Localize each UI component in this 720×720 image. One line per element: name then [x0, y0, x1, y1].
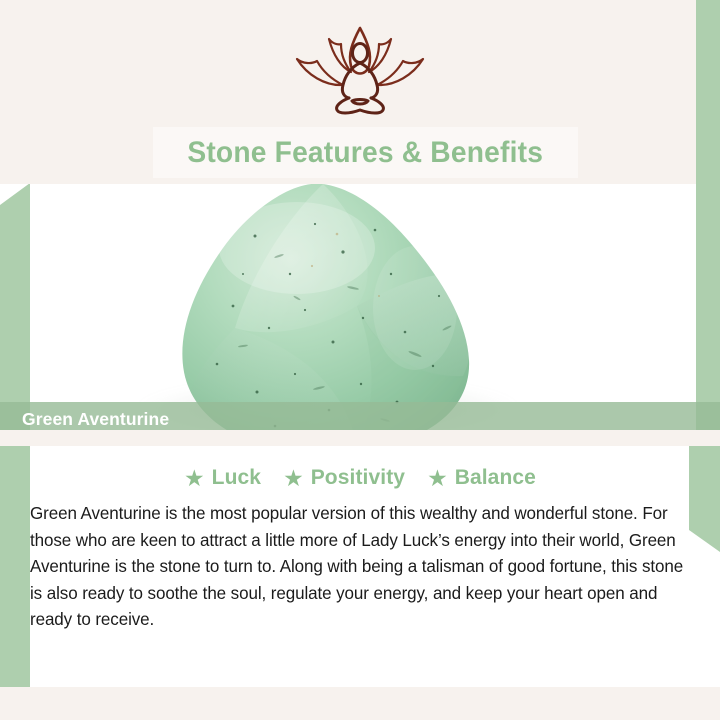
benefit-item-luck: ★ Luck	[184, 466, 261, 490]
benefit-label: Balance	[455, 466, 536, 490]
star-icon: ★	[184, 467, 205, 490]
star-icon: ★	[283, 467, 304, 490]
benefit-item-positivity: ★ Positivity	[283, 466, 405, 490]
lotus-meditation-figure-icon	[281, 22, 439, 119]
green-aventurine-stone-image	[147, 184, 500, 432]
stone-description: Green Aventurine is the most popular ver…	[30, 500, 684, 633]
footer-cream-panel	[0, 687, 720, 720]
benefits-row: ★ Luck ★ Positivity ★ Balance	[0, 466, 720, 490]
stone-features-infographic: BUDDHA STONES Stone Features & Benefits	[0, 0, 720, 720]
star-icon: ★	[427, 467, 448, 490]
stone-photo	[30, 184, 696, 432]
stone-name-label: Green Aventurine	[22, 409, 169, 430]
brand-logo-block: BUDDHA STONES	[0, 22, 720, 143]
page-title: Stone Features & Benefits	[188, 136, 544, 170]
page-title-bar: Stone Features & Benefits	[153, 127, 578, 178]
benefit-label: Luck	[212, 466, 261, 490]
benefit-item-balance: ★ Balance	[427, 466, 536, 490]
divider-cream-strip	[0, 430, 720, 446]
benefit-label: Positivity	[311, 466, 405, 490]
